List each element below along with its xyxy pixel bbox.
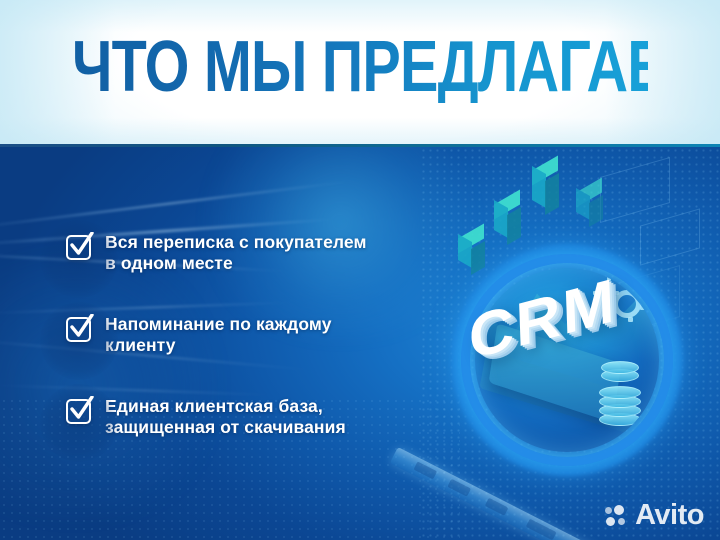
- list-item: Единая клиентская база, защищенная от ск…: [66, 396, 456, 478]
- tech-panel: [600, 157, 670, 223]
- avito-brand-label: Avito: [635, 501, 704, 530]
- banner-body: CRM Вся переписка с покупателем в одном …: [0, 147, 720, 540]
- list-item: Вся переписка с покупателем в одном мест…: [66, 232, 456, 314]
- list-item: Напоминание по каждому клиенту: [66, 314, 456, 396]
- checkbox-checked-icon: [66, 399, 91, 424]
- checkbox-checked-icon: [66, 235, 91, 260]
- avito-dots-icon: [605, 505, 629, 527]
- page-title: ЧТО МЫ ПРЕДЛАГАЕМ: [72, 31, 648, 103]
- promo-banner: ЧТО МЫ ПРЕДЛАГАЕМ: [0, 0, 720, 540]
- avito-watermark: Avito: [605, 501, 704, 530]
- banner-header: ЧТО МЫ ПРЕДЛАГАЕМ: [0, 0, 720, 147]
- list-item-label: Вся переписка с покупателем в одном мест…: [105, 232, 367, 274]
- list-item-label: Единая клиентская база, защищенная от ск…: [105, 396, 346, 438]
- list-item-label: Напоминание по каждому клиенту: [105, 314, 332, 356]
- crm-graphic: CRM: [451, 244, 683, 476]
- checkbox-checked-icon: [66, 317, 91, 342]
- feature-list: Вся переписка с покупателем в одном мест…: [66, 232, 456, 478]
